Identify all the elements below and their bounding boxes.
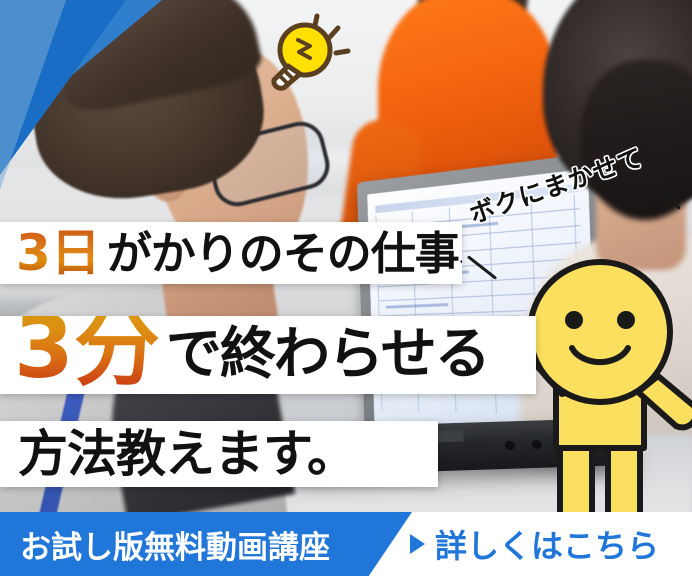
headline-1-highlight: 3日 [16, 228, 107, 278]
headline-1-text: がかりのその仕事、 [107, 231, 462, 276]
promo-banner: ボクにまかせて 3日 がかりのその仕事、 3分 [0, 0, 692, 576]
headline-2-highlight: 3分 [14, 316, 166, 389]
headline-3-text: 方法教えます。 [18, 429, 356, 479]
lightbulb-icon [258, 6, 366, 94]
headline-bar-2: 3分 で終わらせる [0, 316, 536, 394]
headline-bar-3: 方法教えます。 [0, 421, 438, 487]
headline-bar-1: 3日 がかりのその仕事、 [0, 222, 462, 284]
free-trial-badge-label: お試し版無料動画講座 [20, 512, 330, 576]
bottom-cta-bar[interactable]: お試し版無料動画講座 詳しくはこちら [0, 512, 692, 576]
headline-2-text: で終わらせる [166, 327, 489, 383]
details-cta-label: 詳しくはこちら [435, 521, 659, 567]
details-cta-button[interactable]: 詳しくはこちら [410, 512, 659, 576]
play-triangle-icon [410, 534, 425, 554]
corner-shape-pale [0, 0, 66, 190]
